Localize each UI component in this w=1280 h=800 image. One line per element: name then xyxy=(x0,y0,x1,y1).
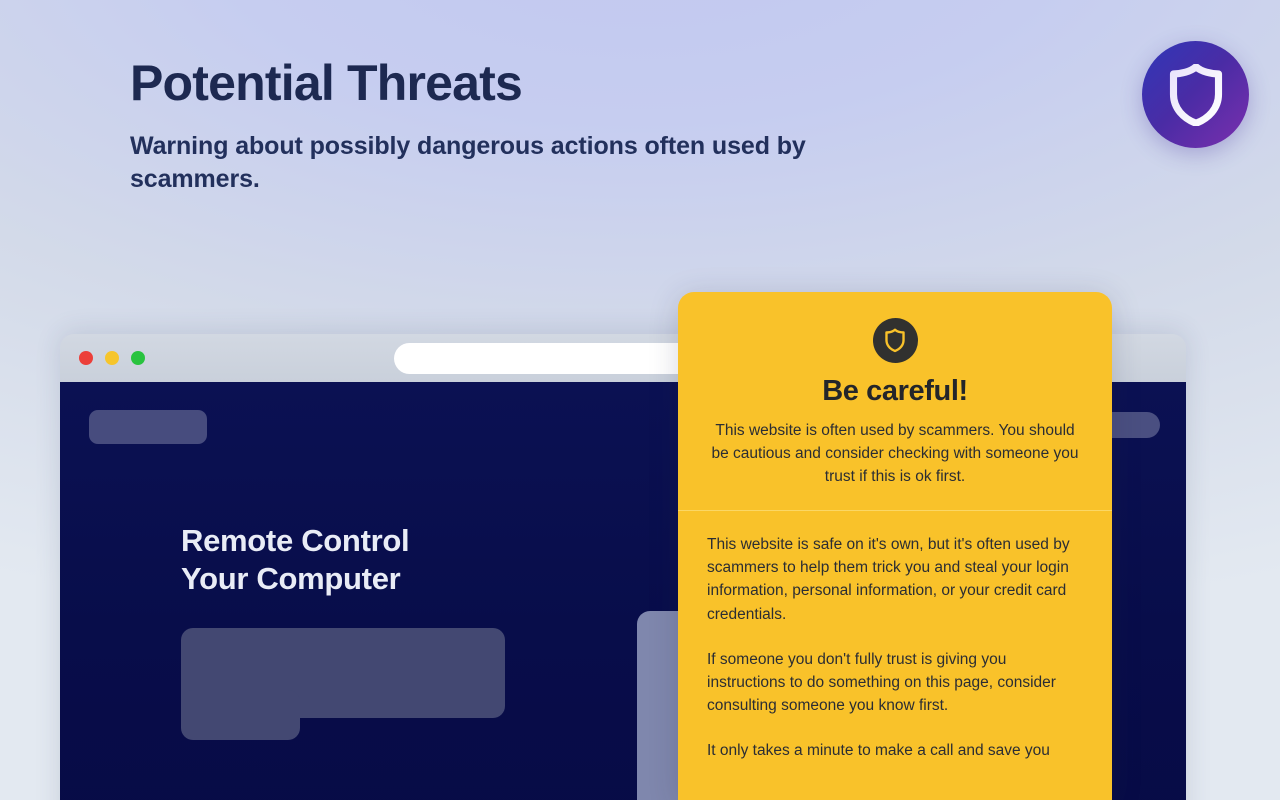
warning-lede: This website is often used by scammers. … xyxy=(708,419,1082,488)
site-headline-line-2: Your Computer xyxy=(181,560,409,598)
site-logo-placeholder xyxy=(89,410,207,444)
shield-icon xyxy=(1168,64,1224,126)
warning-header: Be careful! This website is often used b… xyxy=(678,292,1112,511)
shield-icon xyxy=(873,318,918,363)
site-headline: Remote Control Your Computer xyxy=(181,522,409,598)
warning-title: Be careful! xyxy=(708,375,1082,408)
warning-paragraph: If someone you don't fully trust is givi… xyxy=(707,648,1083,717)
minimize-window-button[interactable] xyxy=(105,351,119,365)
close-window-button[interactable] xyxy=(79,351,93,365)
scam-warning-panel: Be careful! This website is often used b… xyxy=(678,292,1112,800)
page-subtitle: Warning about possibly dangerous actions… xyxy=(130,130,830,197)
page-title: Potential Threats xyxy=(130,56,950,110)
site-headline-line-1: Remote Control xyxy=(181,522,409,560)
window-traffic-lights[interactable] xyxy=(79,351,145,365)
warning-paragraph: This website is safe on it's own, but it… xyxy=(707,533,1083,625)
page-header: Potential Threats Warning about possibly… xyxy=(130,56,950,197)
warning-body: This website is safe on it's own, but it… xyxy=(678,511,1112,762)
brand-shield-badge xyxy=(1142,41,1249,148)
warning-paragraph: It only takes a minute to make a call an… xyxy=(707,739,1083,762)
content-placeholder-bottom xyxy=(181,690,300,740)
maximize-window-button[interactable] xyxy=(131,351,145,365)
